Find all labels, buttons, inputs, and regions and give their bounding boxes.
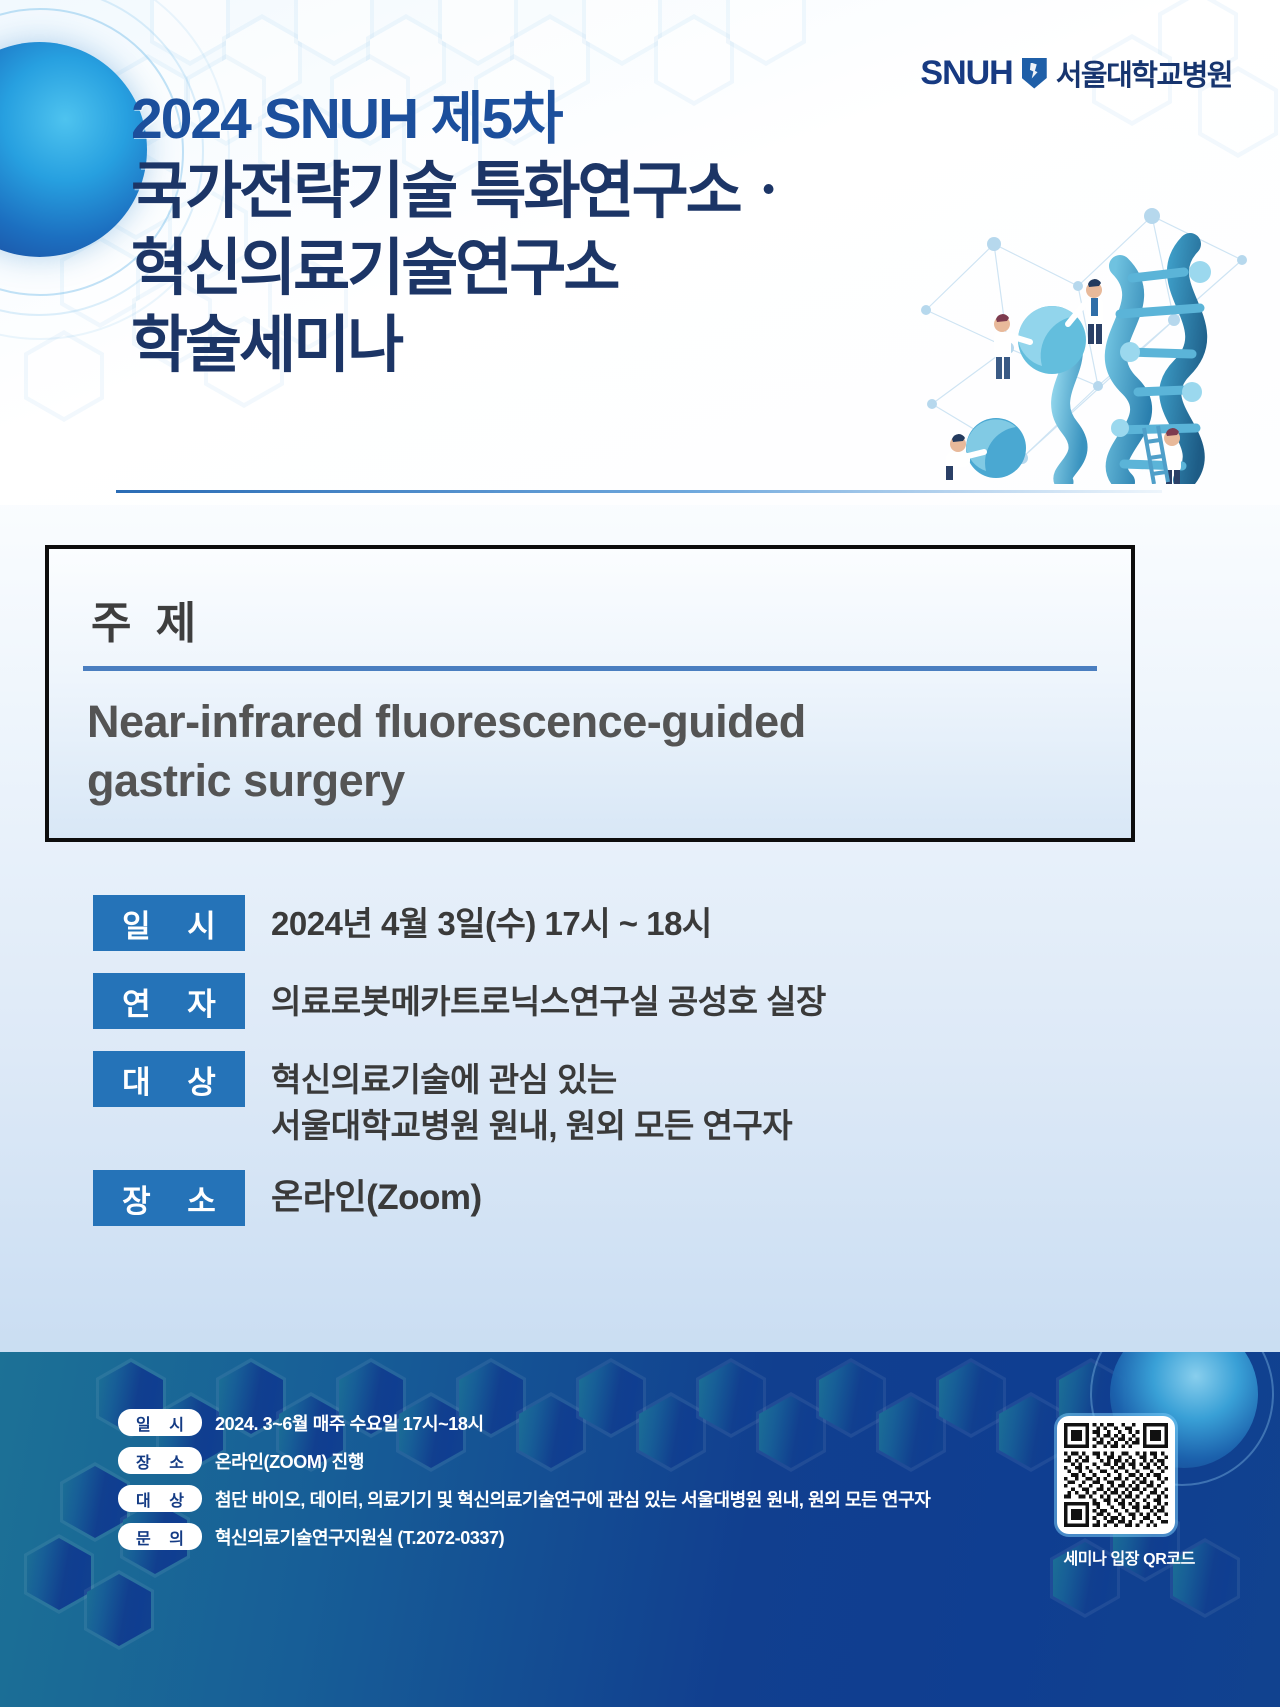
info-value-speaker: 의료로봇메카트로닉스연구실 공성호 실장 [271,973,826,1025]
info-row-date: 일 시 2024년 4월 3일(수) 17시 ~ 18시 [0,895,1280,951]
qr-code-icon[interactable] [1057,1416,1175,1534]
title-line-1: 2024 SNUH 제5차 [131,86,794,152]
info-value-speaker-line1: 의료로봇메카트로닉스연구실 공성호 실장 [271,983,826,1020]
topic-box: 주 제 Near-infrared fluorescence-guided ga… [45,545,1135,842]
logo-snuh-text: SNUH [920,54,1012,93]
qr-caption: 세미나 입장 QR코드 [1063,1545,1195,1569]
info-row-speaker: 연 자 의료로봇메카트로닉스연구실 공성호 실장 [0,973,1280,1029]
topic-label: 주 제 [91,587,202,651]
footer-value-date: 2024. 3~6월 매주 수요일 17시~18시 [215,1410,484,1436]
title-line-4: 학술세미나 [131,308,794,383]
topic-divider [83,666,1097,671]
title-line-3: 혁신의료기술연구소 [131,231,794,306]
info-tag-place: 장 소 [93,1170,245,1226]
topic-title: Near-infrared fluorescence-guided gastri… [87,692,1099,811]
poster-footer: 일 시 2024. 3~6월 매주 수요일 17시~18시 장 소 온라인(ZO… [0,1352,1280,1707]
poster-header: SNUH 서울대학교병원 2024 SNUH 제5차 국가전략기술 특화연구소ㆍ… [0,0,1280,505]
qr-code-image [1064,1423,1168,1527]
footer-row-audience: 대 상 첨단 바이오, 데이터, 의료기기 및 혁신의료기술연구에 관심 있는 … [118,1485,930,1512]
footer-value-place: 온라인(ZOOM) 진행 [215,1448,364,1474]
footer-value-contact: 혁신의료기술연구지원실 (T.2072-0337) [215,1524,504,1550]
footer-tag-audience: 대 상 [118,1485,202,1512]
info-row-place: 장 소 온라인(Zoom) [0,1170,1280,1226]
footer-tag-date: 일 시 [118,1409,202,1436]
dna-helix-illustration [944,232,1244,484]
poster-root: SNUH 서울대학교병원 2024 SNUH 제5차 국가전략기술 특화연구소ㆍ… [0,0,1280,1707]
topic-title-line-1: Near-infrared fluorescence-guided [87,696,806,747]
footer-tag-contact: 문 의 [118,1523,202,1550]
info-value-place: 온라인(Zoom) [271,1170,482,1222]
poster-title-block: 2024 SNUH 제5차 국가전략기술 특화연구소ㆍ 혁신의료기술연구소 학술… [131,86,794,383]
info-value-date: 2024년 4월 3일(수) 17시 ~ 18시 [271,895,712,947]
info-value-audience-line1: 혁신의료기술에 관심 있는 [271,1057,792,1103]
info-tag-audience: 대 상 [93,1051,245,1107]
info-tag-speaker: 연 자 [93,973,245,1029]
footer-tag-place: 장 소 [118,1447,202,1474]
header-divider [116,490,1162,493]
info-value-audience: 혁신의료기술에 관심 있는 서울대학교병원 원내, 원외 모든 연구자 [271,1051,792,1148]
info-row-audience: 대 상 혁신의료기술에 관심 있는 서울대학교병원 원내, 원외 모든 연구자 [0,1051,1280,1148]
topic-title-line-2: gastric surgery [87,755,405,806]
info-value-audience-line2: 서울대학교병원 원내, 원외 모든 연구자 [271,1103,792,1149]
footer-value-audience: 첨단 바이오, 데이터, 의료기기 및 혁신의료기술연구에 관심 있는 서울대병… [215,1486,930,1512]
snuh-logo: SNUH 서울대학교병원 [920,52,1232,94]
info-value-place-line1: 온라인(Zoom) [271,1178,482,1217]
logo-korean-text: 서울대학교병원 [1056,52,1232,94]
footer-row-date: 일 시 2024. 3~6월 매주 수요일 17시~18시 [118,1409,930,1436]
info-value-date-line1: 2024년 4월 3일(수) 17시 ~ 18시 [271,905,712,942]
title-line-2: 국가전략기술 특화연구소ㆍ [131,154,794,229]
footer-row-place: 장 소 온라인(ZOOM) 진행 [118,1447,930,1474]
footer-row-contact: 문 의 혁신의료기술연구지원실 (T.2072-0337) [118,1523,930,1550]
shield-icon [1022,58,1047,89]
info-list: 일 시 2024년 4월 3일(수) 17시 ~ 18시 연 자 의료로봇메카트… [0,895,1280,1248]
info-tag-date: 일 시 [93,895,245,951]
footer-info-list: 일 시 2024. 3~6월 매주 수요일 17시~18시 장 소 온라인(ZO… [118,1409,930,1561]
